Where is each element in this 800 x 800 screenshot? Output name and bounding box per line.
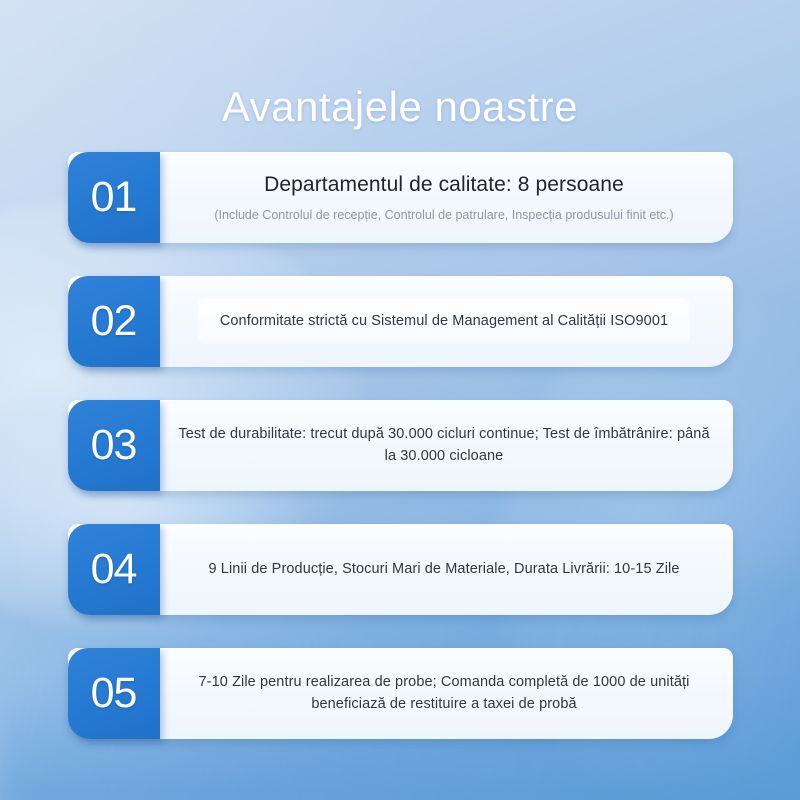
advantages-list: 01 Departamentul de calitate: 8 persoane… [0, 152, 800, 739]
advantage-number-label-05: 05 [91, 672, 137, 715]
advantage-number-badge-03: 03 [68, 400, 160, 491]
advantage-number-label-02: 02 [91, 300, 137, 343]
page-title: Avantajele noastre [0, 83, 800, 131]
advantage-main-text-04: 9 Linii de Producție, Stocuri Mari de Ma… [209, 559, 680, 580]
advantages-poster: Avantajele noastre 01 Departamentul de c… [0, 0, 800, 800]
advantage-number-badge-05: 05 [68, 648, 160, 739]
advantage-card-04: 04 9 Linii de Producție, Stocuri Mari de… [68, 524, 733, 615]
advantage-number-badge-02: 02 [68, 276, 160, 367]
advantage-number-badge-04: 04 [68, 524, 160, 615]
advantage-card-03: 03 Test de durabilitate: trecut după 30.… [68, 400, 733, 491]
advantage-number-label-04: 04 [91, 548, 137, 591]
advantage-card-01: 01 Departamentul de calitate: 8 persoane… [68, 152, 733, 243]
advantage-card-02: 02 Conformitate strictă cu Sistemul de M… [68, 276, 733, 367]
advantage-number-badge-01: 01 [68, 152, 160, 243]
advantage-content-01: Departamentul de calitate: 8 persoane (I… [160, 152, 733, 243]
advantage-card-05: 05 7-10 Zile pentru realizarea de probe;… [68, 648, 733, 739]
advantage-content-05: 7-10 Zile pentru realizarea de probe; Co… [160, 648, 733, 739]
advantage-content-02: Conformitate strictă cu Sistemul de Mana… [160, 276, 733, 367]
advantage-main-text-02: Conformitate strictă cu Sistemul de Mana… [198, 299, 690, 344]
advantage-sub-text-01: (Include Controlul de recepție, Controlu… [214, 207, 673, 223]
advantage-main-text-05: 7-10 Zile pentru realizarea de probe; Co… [174, 672, 715, 714]
advantage-content-04: 9 Linii de Producție, Stocuri Mari de Ma… [160, 524, 733, 615]
advantage-content-03: Test de durabilitate: trecut după 30.000… [160, 400, 733, 491]
advantage-main-text-03: Test de durabilitate: trecut după 30.000… [174, 424, 715, 466]
advantage-number-label-01: 01 [91, 176, 137, 219]
advantage-main-text-01: Departamentul de calitate: 8 persoane [264, 172, 624, 198]
advantage-number-label-03: 03 [91, 424, 137, 467]
